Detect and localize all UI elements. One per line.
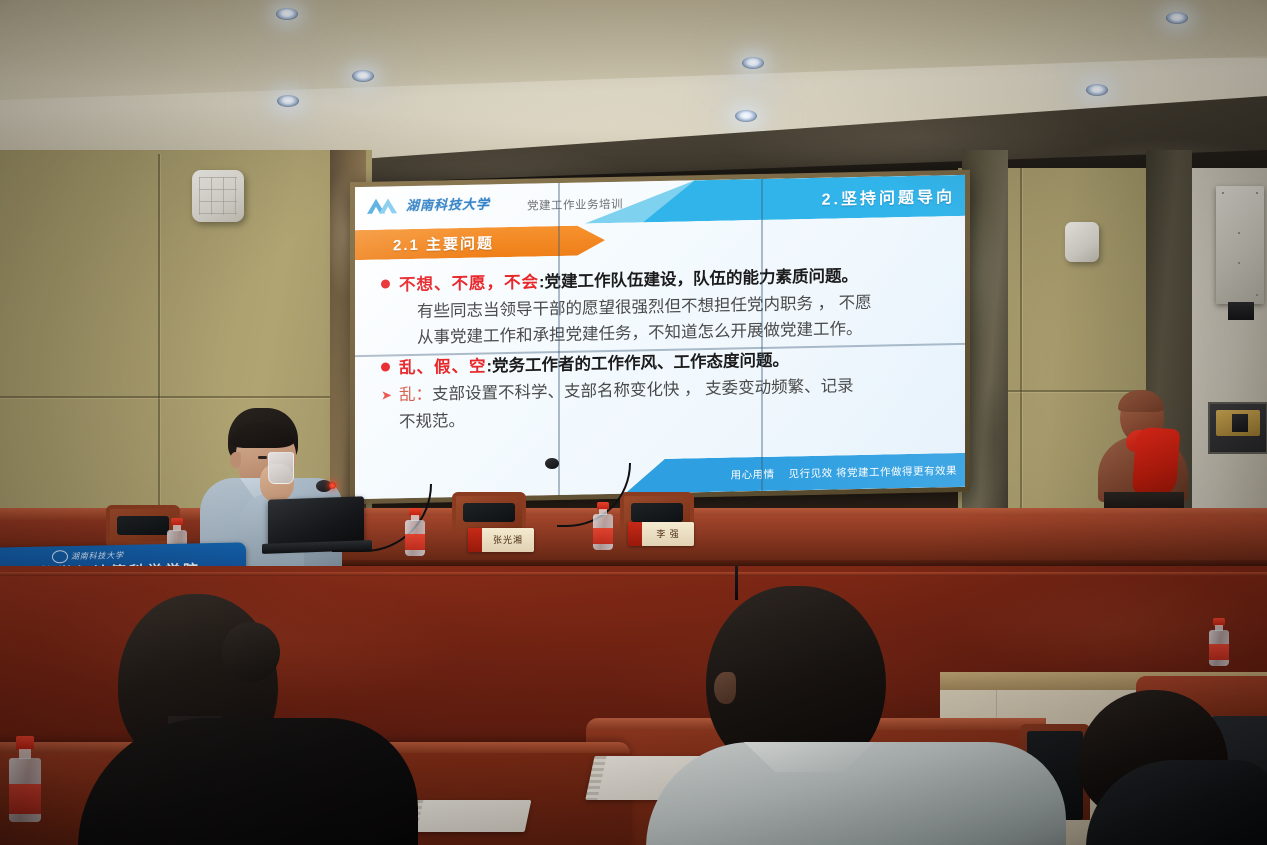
presentation-screen[interactable]: 湖南科技大学 党建工作业务培训 2.坚持问题导向 2.1 主要问题 不想、不愿，… — [355, 175, 965, 499]
nameplate-accent — [628, 522, 642, 546]
bullet-lead: 乱、假、空 — [399, 357, 487, 377]
ceiling-downlight-icon — [276, 8, 298, 20]
mountain-logo-icon — [367, 195, 401, 215]
audience-man-ear — [714, 672, 736, 704]
audience-woman-bun — [222, 622, 280, 682]
water-bottle[interactable] — [404, 508, 426, 556]
bullet-bold: 党建工作队伍建设，队伍的能力素质问题。 — [545, 267, 859, 291]
bullet-dot-icon — [381, 279, 390, 288]
presenter-eye — [258, 456, 267, 459]
water-bottle[interactable] — [1208, 618, 1230, 666]
ceiling-downlight-icon — [742, 57, 764, 69]
footer-left-text: 用心用情 — [731, 466, 789, 482]
video-wall-frame: 湖南科技大学 党建工作业务培训 2.坚持问题导向 2.1 主要问题 不想、不愿，… — [350, 170, 970, 504]
mic-capsule-icon — [545, 458, 559, 469]
section-title-banner: 2.1 主要问题 — [355, 225, 605, 260]
nameplate: 李 强 — [628, 522, 694, 546]
bust-hair — [1118, 390, 1164, 412]
water-bottle[interactable] — [592, 502, 614, 550]
notebook[interactable] — [405, 800, 532, 832]
panel-seam-v — [761, 179, 763, 491]
sub-bullet-lead: 乱： — [399, 386, 432, 405]
bullet-dot-icon — [381, 362, 390, 371]
gooseneck-microphone[interactable] — [545, 458, 635, 528]
ceiling-downlight-icon — [735, 110, 757, 122]
slide-logo-block: 湖南科技大学 — [367, 193, 490, 214]
conference-room-photo: 湖南科技大学 党建工作业务培训 2.坚持问题导向 2.1 主要问题 不想、不愿，… — [0, 0, 1267, 845]
wall-speaker-icon — [192, 170, 244, 222]
panel-seam-v — [558, 183, 560, 495]
sub-bullet-text: 支部设置不科学、支部名称变化快 ， 支委变动频繁、记录 — [432, 377, 854, 403]
bullet-lead: 不想、不愿，不会 — [399, 273, 539, 294]
ceiling-downlight-icon — [1166, 12, 1188, 24]
water-glass — [268, 452, 294, 484]
ceiling-downlight-icon — [1086, 84, 1108, 96]
water-bottle[interactable] — [8, 736, 42, 822]
slide-canvas: 湖南科技大学 党建工作业务培训 2.坚持问题导向 2.1 主要问题 不想、不愿，… — [355, 175, 965, 499]
slide-subtitle: 党建工作业务培训 — [527, 196, 623, 214]
wall-control-panel[interactable] — [1216, 186, 1264, 304]
chapter-title: 2.坚持问题导向 — [822, 183, 955, 210]
footer-right-text: 见行见效 将党建工作做得更有效果 — [789, 462, 965, 481]
nameplate: 张光湘 — [468, 528, 534, 552]
slide-university-name: 湖南科技大学 — [406, 193, 490, 214]
arrow-bullet-icon: ➤ — [381, 388, 393, 401]
bust-red-scarf — [1132, 427, 1181, 500]
mic-led-indicator — [329, 482, 336, 489]
slide-footer: 用心用情 见行见效 将党建工作做得更有效果 — [625, 453, 965, 494]
section-title-text: 2.1 主要问题 — [355, 232, 494, 256]
microphone-stand — [735, 566, 738, 600]
presenter-ear — [230, 452, 241, 468]
nameplate-text: 李 强 — [644, 527, 692, 540]
wall-trim — [0, 572, 1267, 576]
nameplate-accent — [468, 528, 482, 552]
bronze-bust — [1098, 392, 1194, 512]
safe-keypad-icon[interactable] — [1232, 414, 1248, 432]
bullet-bold: 党务工作者的工作作风、工作态度问题。 — [492, 351, 789, 375]
nameplate-text: 张光湘 — [484, 533, 532, 546]
control-panel-mount — [1228, 302, 1254, 320]
wall-speaker-icon — [1065, 222, 1099, 262]
ceiling-downlight-icon — [352, 70, 374, 82]
ceiling-downlight-icon — [277, 95, 299, 107]
